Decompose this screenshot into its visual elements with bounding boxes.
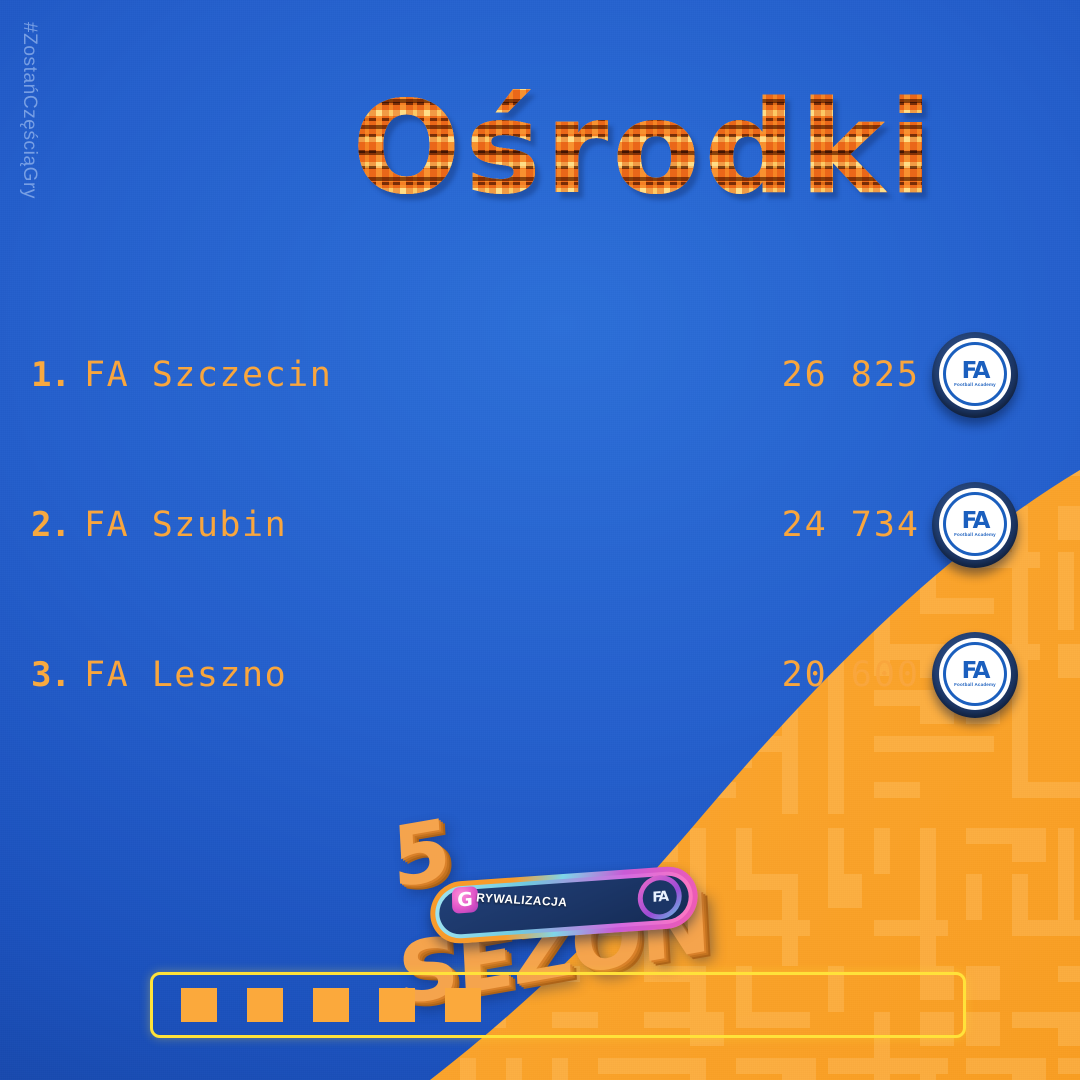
maze-segment — [0, 828, 46, 844]
maze-segment — [552, 1058, 568, 1080]
maze-segment — [690, 0, 764, 16]
maze-segment — [506, 0, 522, 78]
maze-segment — [0, 874, 16, 920]
maze-segment — [138, 138, 212, 154]
rank-number: 3. — [0, 655, 84, 695]
badge-inner-face: FA Football Academy — [950, 349, 1000, 399]
maze-segment — [138, 1058, 212, 1074]
maze-segment — [230, 276, 304, 292]
maze-segment — [1058, 92, 1080, 126]
maze-segment — [644, 1058, 690, 1074]
maze-segment — [92, 782, 126, 816]
maze-segment — [322, 230, 356, 264]
maze-segment — [1058, 1058, 1080, 1074]
maze-segment — [966, 184, 982, 230]
maze-segment — [184, 1058, 200, 1080]
badge-inner-face: FA Football Academy — [950, 499, 1000, 549]
maze-segment — [230, 230, 276, 246]
maze-segment — [1012, 46, 1028, 124]
maze-segment — [92, 828, 108, 874]
footer-segment — [313, 988, 349, 1022]
maze-segment — [322, 1058, 356, 1080]
maze-segment — [138, 828, 184, 844]
maze-segment — [0, 920, 16, 966]
maze-segment — [828, 0, 844, 46]
badge-monogram: FA — [962, 511, 989, 531]
maze-segment — [276, 920, 322, 936]
club-badge: FA Football Academy — [932, 632, 1018, 718]
maze-segment — [1012, 1058, 1046, 1080]
maze-segment — [1012, 184, 1080, 200]
maze-segment — [322, 920, 338, 966]
maze-segment — [736, 276, 810, 292]
maze-segment — [230, 828, 264, 862]
maze-segment — [0, 230, 16, 276]
maze-segment — [552, 230, 586, 264]
maze-segment — [1058, 1012, 1080, 1046]
maze-segment — [276, 0, 292, 78]
maze-segment — [138, 874, 172, 908]
table-row[interactable]: 1. FA Szczecin 26 825 FA Football Academ… — [0, 300, 1080, 450]
maze-segment — [736, 230, 752, 276]
maze-segment — [874, 920, 948, 936]
maze-segment — [1058, 828, 1074, 874]
maze-segment — [368, 874, 384, 952]
maze-segment — [966, 230, 982, 308]
maze-segment — [46, 1058, 92, 1074]
maze-segment — [506, 1058, 522, 1080]
maze-segment — [230, 1058, 246, 1080]
footer-segment — [445, 988, 481, 1022]
maze-segment — [828, 828, 844, 874]
maze-segment — [414, 0, 488, 16]
maze-segment — [1058, 966, 1080, 982]
club-name: FA Leszno — [84, 655, 287, 695]
maze-segment — [1012, 828, 1046, 862]
maze-segment — [0, 782, 46, 798]
maze-segment — [828, 46, 902, 62]
maze-segment — [368, 0, 414, 16]
badge-subtitle: Football Academy — [954, 382, 996, 387]
maze-segment — [92, 138, 138, 154]
maze-segment — [138, 46, 154, 92]
hashtag-vertical-label: #ZostańCzęściąGry — [18, 22, 40, 199]
maze-segment — [828, 230, 902, 246]
maze-segment — [874, 782, 920, 798]
maze-segment — [874, 1058, 948, 1074]
maze-segment — [1012, 230, 1058, 246]
maze-segment — [644, 0, 678, 34]
maze-segment — [920, 0, 966, 16]
maze-segment — [184, 138, 200, 216]
maze-segment — [782, 0, 798, 78]
maze-segment — [644, 46, 690, 62]
club-name: FA Szczecin — [84, 355, 332, 395]
maze-segment — [920, 874, 936, 920]
rank-number: 1. — [0, 355, 84, 395]
maze-segment — [598, 230, 644, 246]
maze-segment — [966, 1012, 1000, 1046]
maze-segment — [736, 828, 752, 874]
badge-subtitle: Football Academy — [954, 532, 996, 537]
maze-segment — [322, 46, 396, 62]
footer-segment — [247, 988, 283, 1022]
maze-segment — [92, 874, 126, 908]
maze-segment — [1058, 184, 1080, 200]
maze-segment — [966, 0, 982, 78]
page-title-maze-texture: Ośrodki — [352, 84, 952, 214]
maze-segment — [276, 92, 310, 126]
maze-segment — [368, 230, 442, 246]
score-value: 20 600 — [782, 655, 920, 695]
maze-segment — [230, 184, 246, 230]
maze-segment — [1058, 874, 1074, 920]
maze-segment — [460, 0, 534, 16]
maze-segment — [276, 46, 292, 124]
maze-segment — [230, 782, 246, 828]
badge-subtitle: Football Academy — [954, 682, 996, 687]
maze-segment — [966, 1058, 1012, 1074]
maze-segment — [782, 920, 798, 966]
maze-segment — [736, 1058, 782, 1074]
maze-segment — [0, 92, 16, 170]
maze-segment — [1058, 276, 1080, 292]
maze-segment — [1058, 782, 1080, 798]
maze-segment — [690, 276, 764, 292]
pill-initial-icon: G — [452, 886, 478, 914]
poster-canvas: #ZostańCzęściąGry Ośrodki Ośrodki Ośrodk… — [0, 0, 1080, 1080]
maze-segment — [736, 920, 810, 936]
club-name: FA Szubin — [84, 505, 287, 545]
maze-segment — [690, 1058, 706, 1080]
maze-segment — [920, 1058, 936, 1080]
maze-segment — [46, 46, 120, 62]
maze-segment — [92, 1058, 108, 1080]
maze-segment — [1012, 920, 1080, 936]
footer-progress-bar[interactable] — [150, 972, 966, 1038]
badge-inner-face: FA Football Academy — [950, 649, 1000, 699]
maze-segment — [966, 46, 1040, 62]
badge-monogram: FA — [962, 661, 989, 681]
maze-segment — [184, 874, 258, 890]
maze-segment — [460, 1058, 476, 1080]
maze-segment — [230, 92, 246, 138]
fa-badge-icon: FA Football Academy — [932, 332, 1018, 418]
maze-segment — [1058, 138, 1080, 154]
fa-badge-icon: FA Football Academy — [932, 632, 1018, 718]
ranking-list: 1. FA Szczecin 26 825 FA Football Academ… — [0, 300, 1080, 750]
maze-segment — [184, 782, 230, 798]
score-value: 26 825 — [782, 355, 920, 395]
maze-segment — [276, 138, 292, 216]
maze-segment — [966, 138, 1040, 154]
maze-segment — [92, 92, 138, 108]
table-row[interactable]: 2. FA Szubin 24 734 FA Football Academy — [0, 450, 1080, 600]
maze-segment — [92, 230, 138, 246]
maze-segment — [966, 966, 1000, 1000]
club-badge: FA Football Academy — [932, 332, 1018, 418]
maze-segment — [92, 46, 138, 62]
maze-segment — [138, 920, 154, 966]
maze-segment — [828, 874, 862, 908]
maze-segment — [736, 874, 782, 890]
maze-segment — [782, 874, 798, 920]
maze-segment — [1012, 92, 1028, 170]
maze-segment — [46, 92, 62, 170]
fa-badge-icon: FA Football Academy — [932, 482, 1018, 568]
maze-segment — [414, 46, 488, 62]
score-value: 24 734 — [782, 505, 920, 545]
maze-segment — [322, 874, 368, 890]
club-badge: FA Football Academy — [932, 482, 1018, 568]
table-row[interactable]: 3. FA Leszno 20 600 FA Football Academy — [0, 600, 1080, 750]
footer-segment — [379, 988, 415, 1022]
maze-segment — [92, 920, 126, 954]
maze-segment — [644, 230, 660, 276]
season-logo: 5 SEZON G RYWALIZACJA FA — [392, 770, 732, 950]
maze-segment — [644, 276, 690, 292]
maze-segment — [46, 920, 120, 936]
maze-segment — [506, 230, 522, 308]
rank-number: 2. — [0, 505, 84, 545]
page-title: Ośrodki Ośrodki Ośrodki — [352, 84, 952, 214]
maze-segment — [782, 1058, 816, 1080]
maze-segment — [966, 874, 982, 920]
maze-segment — [874, 828, 890, 874]
maze-segment — [92, 966, 138, 982]
maze-segment — [46, 1012, 92, 1028]
maze-segment — [552, 0, 586, 34]
maze-segment — [184, 0, 230, 16]
maze-segment — [690, 46, 736, 62]
maze-segment — [920, 46, 994, 62]
footer-segment — [181, 988, 217, 1022]
footer-segments — [181, 988, 481, 1022]
maze-segment — [1058, 46, 1080, 62]
maze-segment — [184, 92, 218, 126]
maze-segment — [46, 0, 120, 16]
maze-segment — [92, 1012, 138, 1028]
badge-monogram: FA — [962, 361, 989, 381]
maze-segment — [46, 966, 120, 982]
pill-fa-monogram: FA — [642, 879, 677, 915]
maze-segment — [276, 230, 350, 246]
maze-segment — [92, 0, 166, 16]
maze-segment — [1012, 138, 1058, 154]
maze-segment — [966, 828, 1012, 844]
maze-segment — [322, 0, 368, 16]
maze-segment — [1058, 230, 1080, 246]
maze-segment — [1058, 0, 1074, 46]
maze-segment — [1012, 874, 1028, 920]
maze-segment — [0, 0, 16, 78]
maze-segment — [920, 230, 954, 264]
maze-segment — [414, 230, 430, 276]
